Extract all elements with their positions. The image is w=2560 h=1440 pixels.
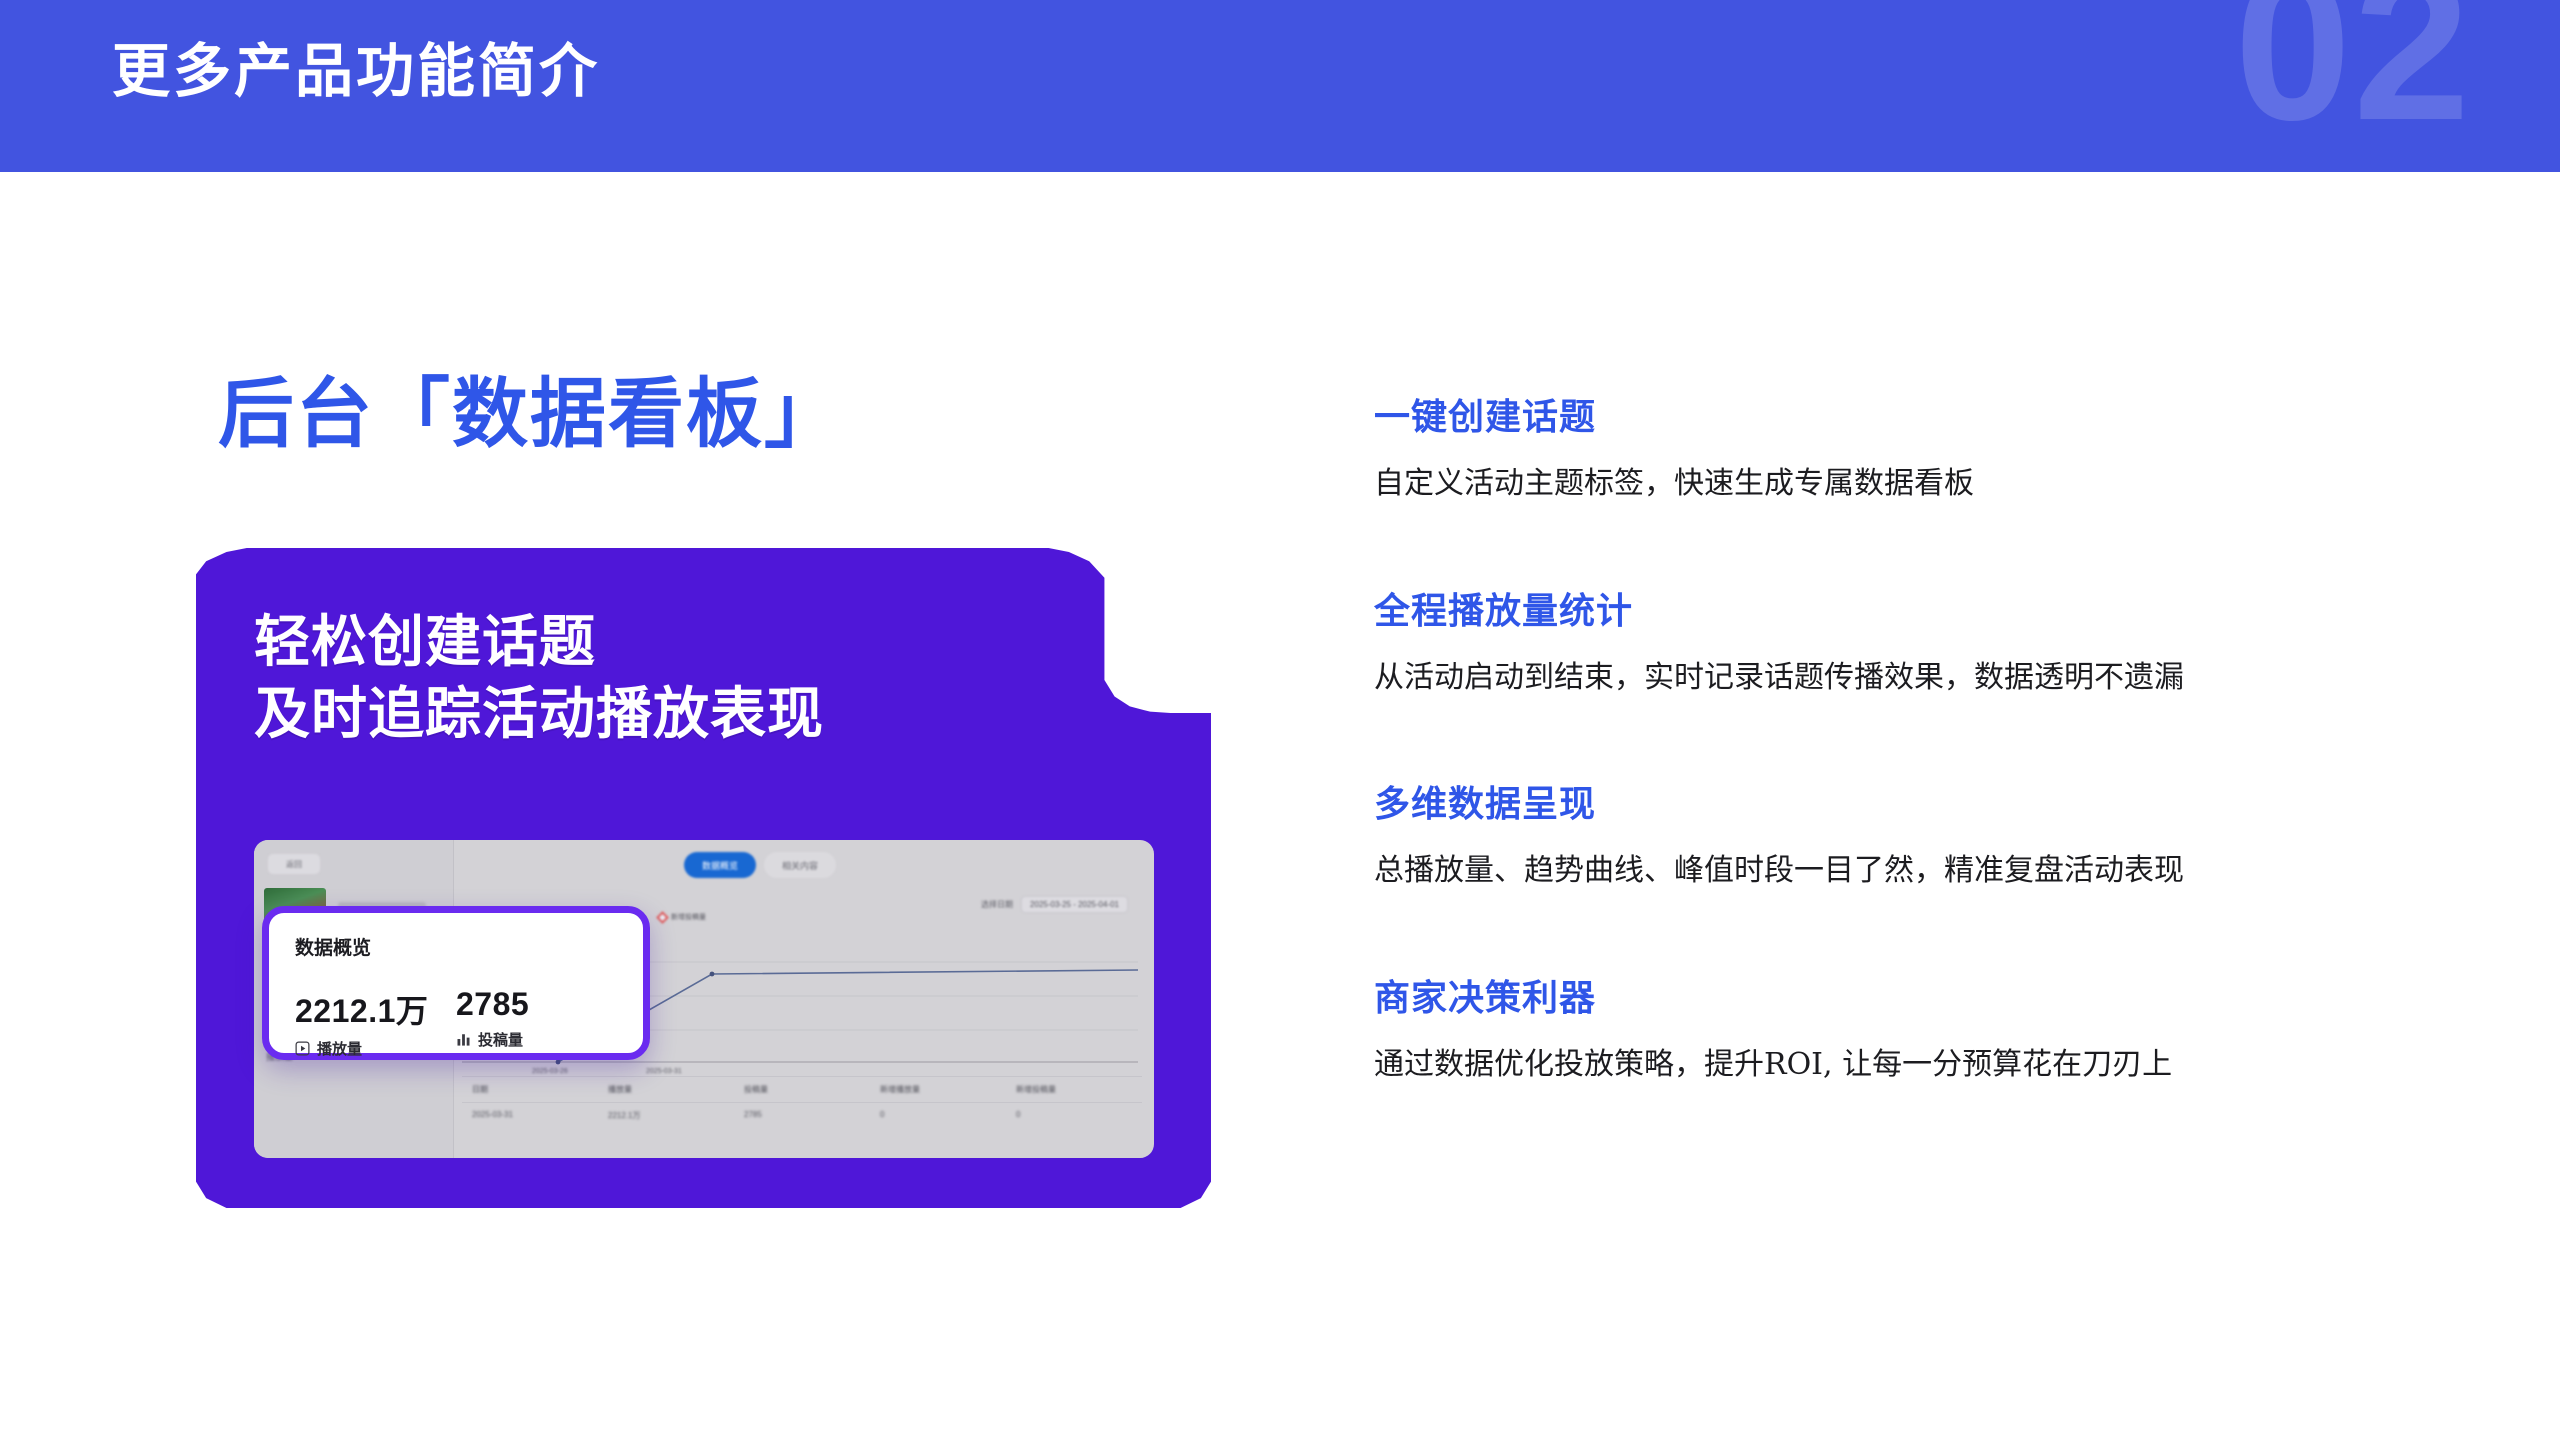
back-button[interactable]: 返回 — [268, 854, 320, 874]
stat-value: 2212.1万 — [295, 986, 456, 1032]
table-header-cell: 新增投稿量 — [1006, 1084, 1142, 1095]
table-cell: 2212.1万 — [598, 1110, 734, 1121]
feature-title: 全程播放量统计 — [1374, 582, 2464, 634]
table-row: 2025-03-31 2212.1万 2785 0 0 — [462, 1102, 1142, 1128]
feature-item-1: 一键创建话题 自定义活动主题标签，快速生成专属数据看板 — [1374, 388, 2464, 506]
play-icon — [295, 1041, 310, 1056]
stat-label-row: 播放量 — [295, 1038, 456, 1059]
slide-root: 02 更多产品功能简介 后台「数据看板」 轻松创建话题 及时追踪活动播放表现 返… — [0, 0, 2560, 1440]
table-header-cell: 新增播放量 — [870, 1084, 1006, 1095]
x-axis-label: 2025-03-31 — [646, 1068, 682, 1075]
page-title: 更多产品功能简介 — [112, 40, 600, 104]
feature-item-4: 商家决策利器 通过数据优化投放策略，提升ROI, 让每一分预算花在刀刃上 — [1374, 969, 2464, 1087]
date-range-value[interactable]: 2025-03-25 - 2025-04-01 — [1021, 896, 1128, 913]
table-header-cell: 日期 — [462, 1084, 598, 1095]
popup-stats: 2212.1万 播放量 2785 投稿量 — [295, 986, 617, 1059]
feature-description: 从活动启动到结束，实时记录话题传播效果，数据透明不遗漏 — [1374, 656, 2464, 700]
card-title: 轻松创建话题 及时追踪活动播放表现 — [254, 606, 824, 749]
feature-description: 总播放量、趋势曲线、峰值时段一目了然，精准复盘活动表现 — [1374, 849, 2464, 893]
date-range-picker[interactable]: 选择日期 2025-03-25 - 2025-04-01 — [981, 896, 1128, 913]
data-table: 日期 播放量 投稿量 新增播放量 新增投稿量 2025-03-31 2212.1… — [462, 1076, 1142, 1128]
stat-posts: 2785 投稿量 — [456, 986, 617, 1059]
feature-title: 一键创建话题 — [1374, 388, 2464, 440]
table-cell: 2785 — [734, 1110, 870, 1121]
stat-value: 2785 — [456, 986, 617, 1023]
stat-label-row: 投稿量 — [456, 1029, 617, 1050]
table-header-cell: 播放量 — [598, 1084, 734, 1095]
table-cell: 2025-03-31 — [462, 1110, 598, 1121]
feature-description: 自定义活动主题标签，快速生成专属数据看板 — [1374, 462, 2464, 506]
product-preview-card: 轻松创建话题 及时追踪活动播放表现 返回 数据概览 2212.1万 播放量 数据… — [196, 548, 1211, 1208]
header-banner: 02 更多产品功能简介 — [0, 0, 2560, 172]
legend-item-new-posts[interactable]: 新增投稿量 — [658, 912, 706, 922]
feature-description: 通过数据优化投放策略，提升ROI, 让每一分预算花在刀刃上 — [1374, 1043, 2464, 1087]
stat-label: 投稿量 — [478, 1029, 523, 1050]
stat-plays: 2212.1万 播放量 — [295, 986, 456, 1059]
dashboard-tabs: 数据概览 相关内容 — [684, 852, 836, 878]
table-cell: 0 — [870, 1110, 1006, 1121]
tab-data-overview[interactable]: 数据概览 — [684, 852, 756, 878]
feature-item-2: 全程播放量统计 从活动启动到结束，实时记录话题传播效果，数据透明不遗漏 — [1374, 582, 2464, 700]
table-header-row: 日期 播放量 投稿量 新增播放量 新增投稿量 — [462, 1076, 1142, 1102]
feature-title: 商家决策利器 — [1374, 969, 2464, 1021]
feature-title: 多维数据呈现 — [1374, 775, 2464, 827]
tab-related-content[interactable]: 相关内容 — [764, 852, 836, 878]
data-overview-popup: 数据概览 2212.1万 播放量 2785 — [262, 906, 650, 1060]
table-header-cell: 投稿量 — [734, 1084, 870, 1095]
card-title-line1: 轻松创建话题 — [254, 606, 824, 678]
x-axis-label: 2025-03-26 — [532, 1068, 568, 1075]
feature-item-3: 多维数据呈现 总播放量、趋势曲线、峰值时段一目了然，精准复盘活动表现 — [1374, 775, 2464, 893]
popup-title: 数据概览 — [295, 933, 617, 960]
feature-list: 一键创建话题 自定义活动主题标签，快速生成专属数据看板 全程播放量统计 从活动启… — [1374, 388, 2464, 1086]
section-headline: 后台「数据看板」 — [218, 352, 842, 462]
section-number: 02 — [2234, 0, 2472, 152]
date-range-label: 选择日期 — [981, 899, 1013, 910]
legend-label: 新增投稿量 — [671, 912, 706, 922]
chart-icon — [456, 1032, 471, 1047]
card-title-line2: 及时追踪活动播放表现 — [254, 678, 824, 750]
stat-label: 播放量 — [317, 1038, 362, 1059]
diamond-marker-icon — [656, 911, 669, 924]
table-cell: 0 — [1006, 1110, 1142, 1121]
